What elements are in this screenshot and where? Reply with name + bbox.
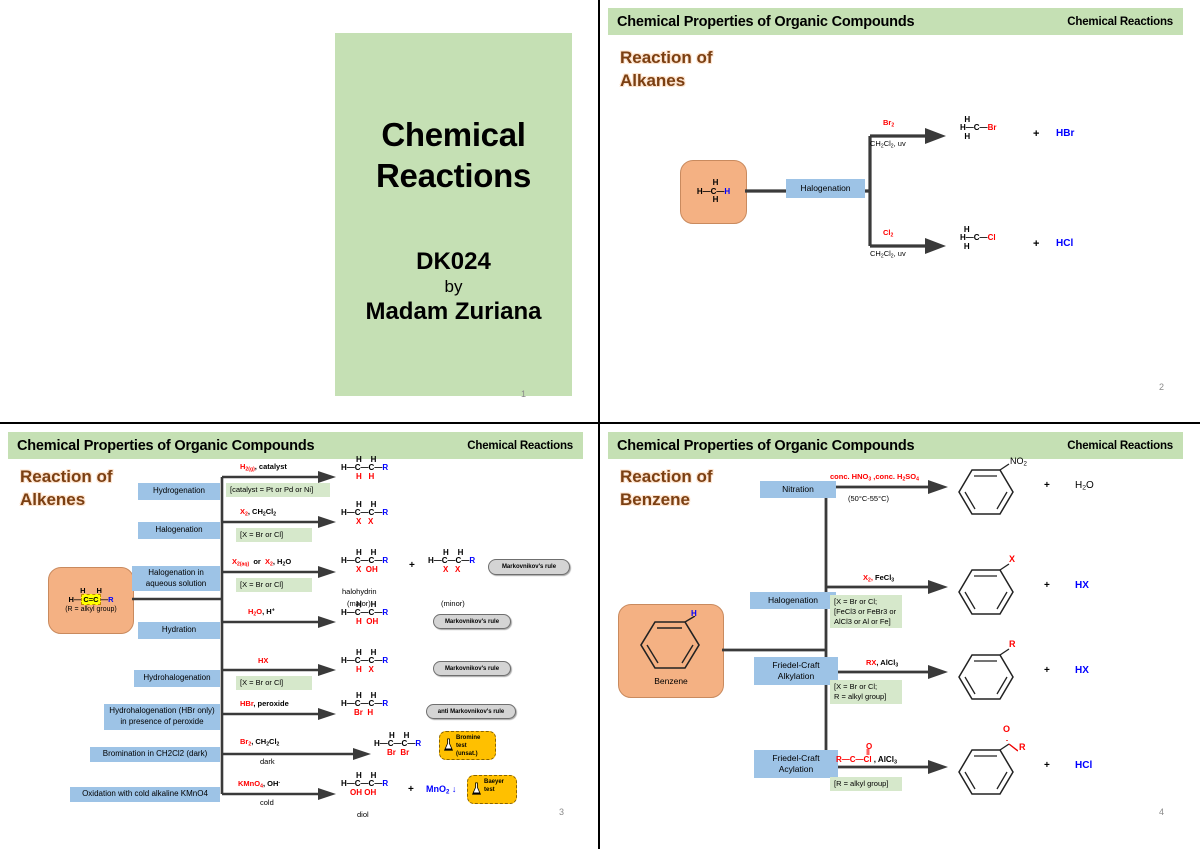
note-hx: [X = Br or Cl] — [236, 676, 312, 690]
pill-markovnikov-2: Markovnikov's rule — [433, 614, 511, 629]
byproduct-hcl: HCl — [1056, 238, 1073, 249]
byproduct-hx: HX — [1075, 665, 1089, 676]
step-label-friedel-craft-alkylation[interactable]: Friedel-Craft Alkylation — [754, 657, 838, 685]
condition-br2: CH2Cl2, uv — [870, 139, 906, 149]
step-label-hydrogenation[interactable]: Hydrogenation — [138, 483, 220, 500]
product-alkylbenzene: R — [956, 645, 1018, 706]
caption-diol: diol — [357, 810, 369, 819]
course-code: DK024 — [335, 248, 572, 276]
reaction-arrows — [608, 432, 1183, 832]
product-halobenzene: X — [956, 560, 1018, 621]
product-bromomethane: H H—C—Br H — [960, 116, 996, 141]
by-label: by — [335, 277, 572, 297]
product-aryl-ketone: O R — [956, 740, 1018, 801]
reagent-cl2: Cl2 — [883, 228, 893, 238]
slide-1[interactable]: Chemical Reactions DK024 by Madam Zurian… — [0, 0, 600, 424]
reagent-hydration: H2O, H+ — [248, 607, 275, 617]
ybox-line1: Bromine test — [456, 735, 492, 751]
plus-sign: + — [409, 560, 415, 571]
note-alkylation: [X = Br or Cl; R = alkyl group] — [830, 680, 902, 704]
reagent-br2-dark: Br2, CH2Cl2 — [240, 737, 279, 747]
step-label-hydrohalogenation-peroxide[interactable]: Hydrohalogenation (HBr only) in presence… — [104, 704, 220, 730]
plus-sign: + — [1044, 760, 1050, 771]
product-dihalide-minor: H H H—C—C—R X X — [428, 549, 475, 574]
product-alkane: H H H—C—C—R H H — [341, 456, 388, 481]
note-halogen-x: [X = Br or Cl] — [236, 528, 312, 542]
substituent-x: X — [1009, 554, 1015, 564]
step-label-halogenation[interactable]: Halogenation — [786, 179, 865, 198]
page-number: 2 — [1159, 382, 1164, 392]
product-anti-markovnikov: H H H—C—C—R Br H — [341, 692, 388, 717]
reagent-halogenation-aqueous: X2(aq) or X2, H2O — [232, 557, 291, 567]
reagent-hydrogenation: H2(g), catalyst — [240, 462, 287, 472]
condition-cold: cold — [260, 798, 274, 807]
plus-sign: + — [408, 784, 414, 795]
step-label-halogenation[interactable]: Halogenation — [138, 522, 220, 539]
step-label-hydration[interactable]: Hydration — [138, 622, 220, 639]
flask-icon — [443, 738, 454, 752]
pill-anti-markovnikov: anti Markovnikov's rule — [426, 704, 516, 719]
product-halohydrin: H H H—C—C—R X OH — [341, 549, 388, 574]
substituent-r: R — [1019, 742, 1026, 752]
reagent-nitration: conc. HNO3 ,conc. H2SO4 — [830, 472, 919, 482]
product-dibromide: H H H—C—C—R Br Br — [374, 732, 421, 757]
benzene-ring-icon — [956, 645, 1018, 701]
product-chloromethane: H H—C—Cl H — [960, 226, 996, 251]
product-alcohol: H H H—C—C—R H OH — [341, 601, 388, 626]
note-halogen-x-aq: [X = Br or Cl] — [236, 578, 312, 592]
carbonyl-oxygen: O — [1003, 724, 1010, 734]
page-number: 4 — [1159, 807, 1164, 817]
substituent-r: R — [1009, 639, 1016, 649]
step-label-halogenation[interactable]: Halogenation — [750, 592, 836, 609]
reagent-halogenation: X2, CH2Cl2 — [240, 507, 276, 517]
condition-dark: dark — [260, 757, 275, 766]
reagent-acylation: O ‖ R—C—Cl , AlCl3 — [836, 743, 897, 766]
note-halogenation-catalyst: [X = Br or Cl; [FeCl3 or FeBr3 or AlCl3 … — [830, 595, 902, 628]
author-name: Madam Zuriana — [335, 298, 572, 326]
step-label-hydrohalogenation[interactable]: Hydrohalogenation — [134, 670, 220, 687]
yellow-box-baeyer-test: Baeyer test — [467, 775, 517, 804]
product-haloalkane: H H H—C—C—R H X — [341, 649, 388, 674]
step-label-halogenation-aqueous[interactable]: Halogenation in aqueous solution — [132, 566, 220, 591]
reagent-hydrohalogenation: HX — [258, 656, 268, 665]
slide-2[interactable]: Chemical Properties of Organic Compounds… — [600, 0, 1200, 424]
product-diol: H H H—C—C—R OH OH — [341, 772, 388, 797]
byproduct-hcl: HCl — [1075, 760, 1092, 771]
benzene-ring-icon — [956, 460, 1018, 516]
reagent-hbr-peroxide: HBr, peroxide — [240, 699, 289, 708]
plus-sign: + — [1044, 580, 1050, 591]
condition-cl2: CH2Cl2, uv — [870, 249, 906, 259]
plus-sign: + — [1044, 480, 1050, 491]
reagent-halogenation: X2, FeCl3 — [863, 573, 894, 583]
reagent-br2: Br2 — [883, 118, 894, 128]
title-slide-background: Chemical Reactions DK024 by Madam Zurian… — [335, 33, 572, 396]
step-label-bromination-dark[interactable]: Bromination in CH2Cl2 (dark) — [90, 747, 220, 762]
reaction-arrows — [608, 8, 1183, 408]
ybox-line1: Baeyer — [484, 779, 513, 787]
product-dihalide: H H H—C—C—R X X — [341, 501, 388, 526]
page-number: 3 — [559, 807, 564, 817]
pill-markovnikov-3: Markovnikov's rule — [433, 661, 511, 676]
slide-3[interactable]: Chemical Properties of Organic Compounds… — [0, 424, 600, 849]
note-acylation: [R = alkyl group] — [830, 777, 902, 791]
pill-markovnikov-1: Markovnikov's rule — [488, 559, 570, 575]
ybox-line2: (unsat.) — [456, 751, 492, 759]
plus-sign: + — [1033, 128, 1039, 140]
step-label-friedel-craft-acylation[interactable]: Friedel-Craft Acylation — [754, 750, 838, 778]
byproduct-water: H2O — [1075, 480, 1094, 492]
substituent-no2: NO2 — [1010, 456, 1027, 468]
byproduct-hx: HX — [1075, 580, 1089, 591]
yellow-box-bromine-test: Bromine test (unsat.) — [439, 731, 496, 760]
byproduct-mno2: MnO2 ↓ — [426, 784, 456, 796]
plus-sign: + — [1044, 665, 1050, 676]
caption-minor: (minor) — [441, 599, 465, 608]
ybox-line2: test — [484, 787, 513, 795]
step-label-nitration[interactable]: Nitration — [760, 481, 836, 498]
flask-icon — [471, 782, 482, 796]
page-number: 1 — [521, 389, 526, 399]
condition-nitration: (50°C-55°C) — [848, 494, 889, 503]
caption-halohydrin: halohydrin — [342, 587, 377, 596]
byproduct-hbr: HBr — [1056, 128, 1074, 139]
plus-sign: + — [1033, 238, 1039, 250]
slide-4[interactable]: Chemical Properties of Organic Compounds… — [600, 424, 1200, 849]
note-catalyst: [catalyst = Pt or Pd or Ni] — [226, 483, 330, 497]
presentation-subtitle: DK024 by Madam Zuriana — [335, 248, 572, 326]
step-label-oxidation-kmno4[interactable]: Oxidation with cold alkaline KMnO4 — [70, 787, 220, 802]
reagent-alkylation: RX, AlCl3 — [866, 658, 898, 668]
benzene-ring-icon — [956, 740, 1018, 796]
presentation-title: Chemical Reactions — [335, 115, 572, 197]
slide-handout-page: Chemical Reactions DK024 by Madam Zurian… — [0, 0, 1200, 849]
reagent-kmno4: KMnO4, OH- — [238, 779, 280, 789]
benzene-ring-icon — [956, 560, 1018, 616]
product-nitrobenzene: NO2 — [956, 460, 1018, 521]
